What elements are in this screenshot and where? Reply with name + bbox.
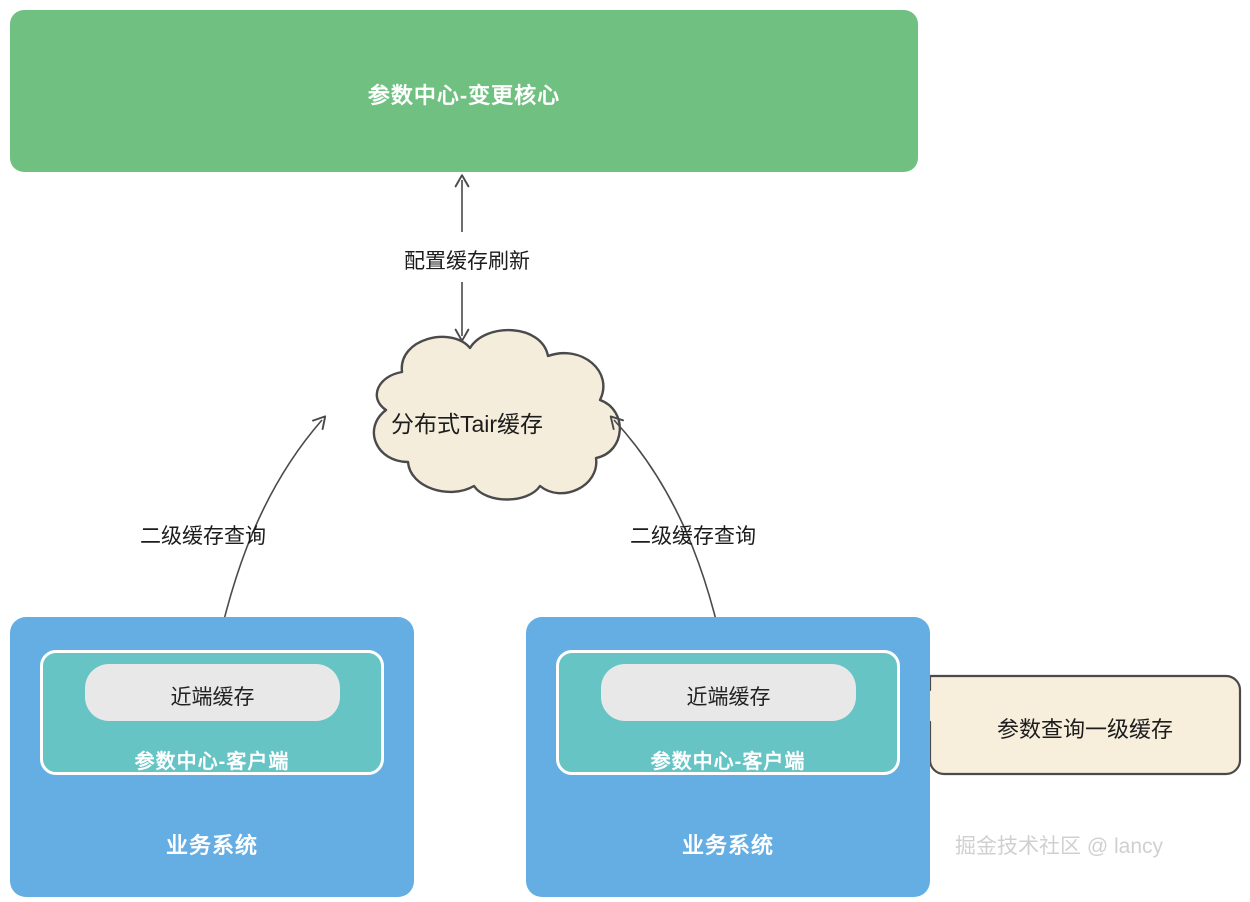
parameter-center-core-label: 参数中心-变更核心 — [10, 78, 918, 110]
edge-label-l2-query-left: 二级缓存查询 — [140, 520, 330, 550]
watermark-label: 掘金技术社区 @ lancy — [955, 830, 1163, 860]
business-system-label-1: 业务系统 — [10, 828, 414, 860]
near-cache-label-2: 近端缓存 — [601, 681, 856, 711]
business-system-label-2: 业务系统 — [526, 828, 930, 860]
callout-label: 参数查询一级缓存 — [930, 712, 1240, 744]
near-cache-label-1: 近端缓存 — [85, 681, 340, 711]
edge-label-l2-query-right: 二级缓存查询 — [630, 520, 820, 550]
parameter-center-client-label-2: 参数中心-客户端 — [556, 745, 900, 774]
parameter-center-client-label-1: 参数中心-客户端 — [40, 745, 384, 774]
distributed-cache-label: 分布式Tair缓存 — [337, 405, 597, 439]
edge-label-config-refresh: 配置缓存刷新 — [337, 245, 597, 275]
